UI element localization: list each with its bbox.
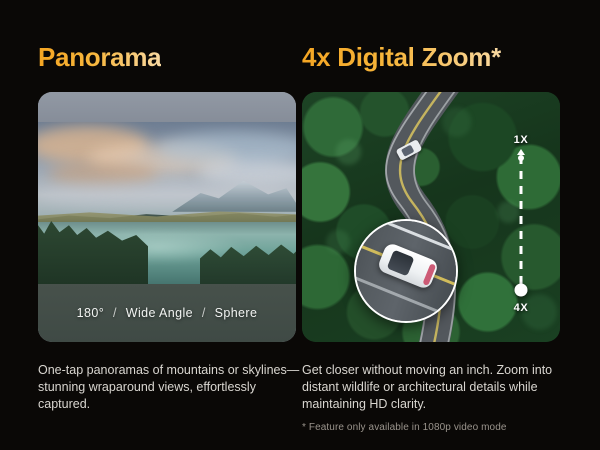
panorama-landscape-photo: 180° / Wide Angle / Sphere [38,92,296,342]
magnified-car-circle[interactable] [354,219,458,323]
aerial-forest-road-photo: 1X 4X [302,92,560,342]
zoom-slider-track[interactable] [520,156,523,292]
zoom-slider-min-label: 1X [504,134,538,146]
zoom-level-slider[interactable]: 1X 4X [504,134,538,314]
zoom-slider-handle[interactable] [515,284,528,297]
panorama-heading: Panorama [38,42,161,73]
digital-zoom-description: Get closer without moving an inch. Zoom … [302,362,564,413]
panorama-description: One-tap panoramas of mountains or skylin… [38,362,300,413]
caption-separator-1: / [113,306,117,320]
panorama-caption: 180° / Wide Angle / Sphere [38,306,296,320]
panorama-card[interactable]: 180° / Wide Angle / Sphere [38,92,296,342]
caption-separator-2: / [202,306,206,320]
caption-item-sphere: Sphere [215,306,258,320]
caption-item-wide-angle: Wide Angle [126,306,193,320]
feature-slide: Panorama 180° / Wide Angle / Sphere [0,0,600,450]
caption-item-angle: 180° [77,306,104,320]
digital-zoom-heading: 4x Digital Zoom* [302,42,501,73]
panorama-letterbox-top [38,92,296,122]
zoom-slider-max-label: 4X [504,302,538,314]
zoom-slider-min-dot [518,155,524,161]
digital-zoom-footnote: * Feature only available in 1080p video … [302,422,572,433]
panorama-photo-strip [38,122,296,284]
digital-zoom-card[interactable]: 1X 4X [302,92,560,342]
